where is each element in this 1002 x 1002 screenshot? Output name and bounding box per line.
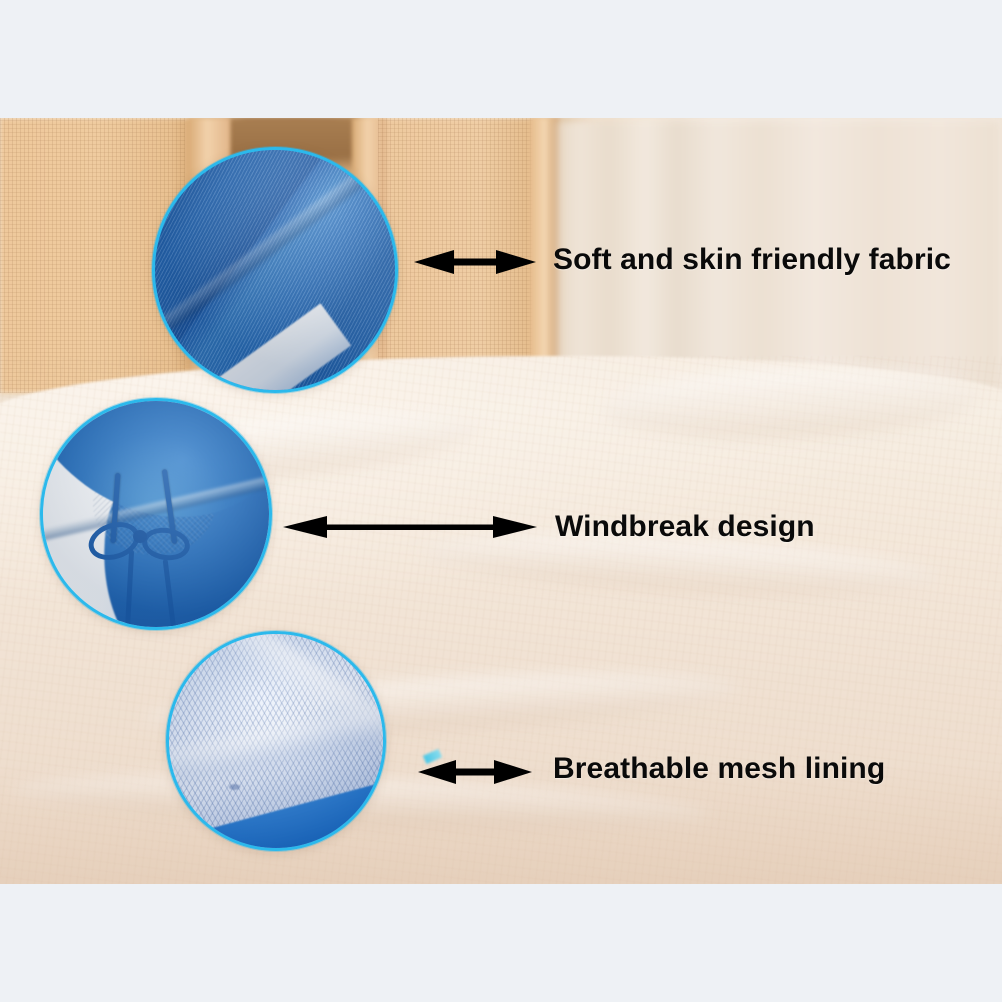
double-arrow-mesh-lining <box>418 757 532 787</box>
inset-shading <box>43 401 269 627</box>
callout-inset-drawstring-bow-closeup <box>40 398 272 630</box>
inset-shading <box>169 634 383 848</box>
double-arrow-soft-fabric <box>414 247 536 277</box>
screenshot-canvas: Soft and skin friendly fabric Windbreak … <box>0 0 1002 1002</box>
inset-shading <box>155 150 395 390</box>
callout-inset-mesh-lining-closeup <box>166 631 386 851</box>
callout-label-soft-fabric: Soft and skin friendly fabric <box>553 243 951 277</box>
double-arrow-windbreak <box>283 513 537 541</box>
callout-label-mesh-lining: Breathable mesh lining <box>553 752 885 786</box>
callout-inset-blue-fabric-closeup <box>152 147 398 393</box>
callout-label-windbreak: Windbreak design <box>555 510 815 544</box>
